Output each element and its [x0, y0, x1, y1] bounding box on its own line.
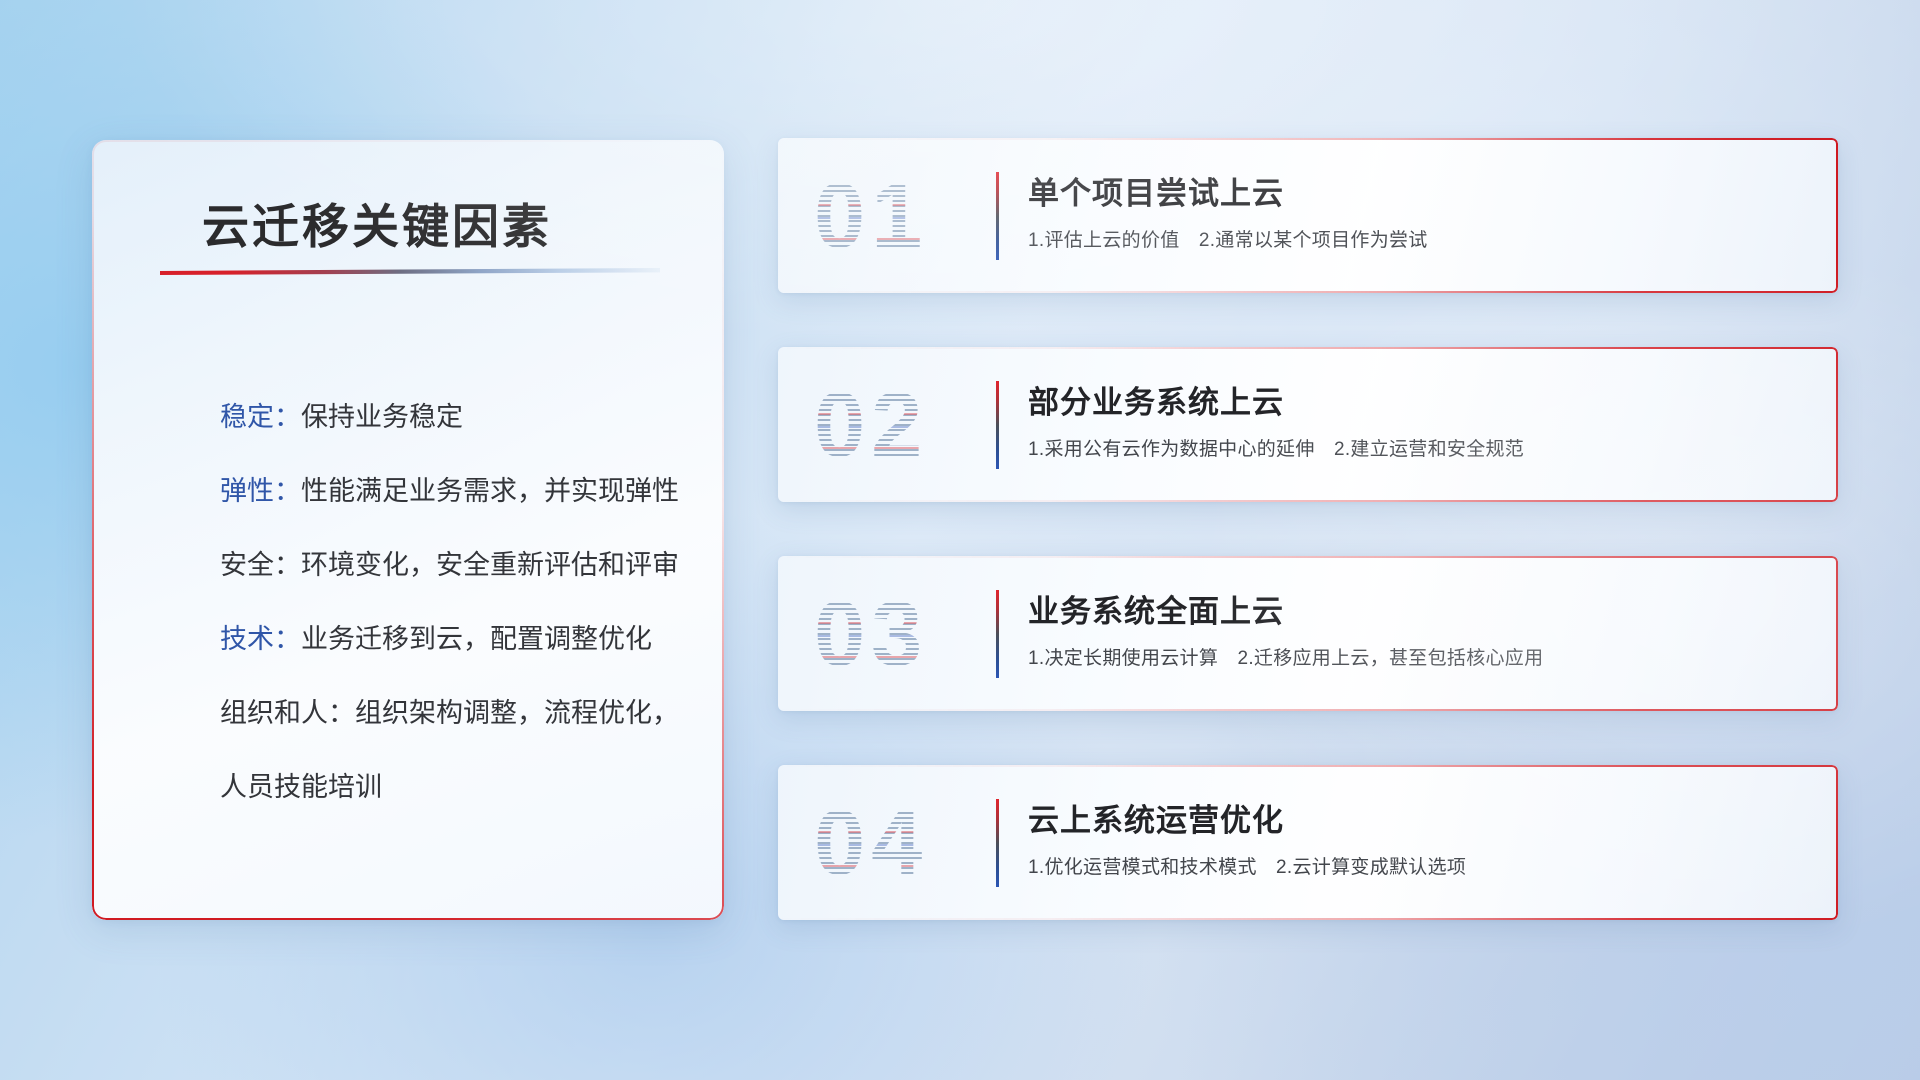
- factor-text: 保持业务稳定: [301, 402, 463, 432]
- factor-item: 组织和人：组织架构调整，流程优化，: [220, 676, 690, 750]
- stage-number-text: 02: [814, 374, 928, 476]
- stage-number-text: 03: [814, 583, 928, 685]
- factor-key: 弹性：: [220, 476, 301, 506]
- stage-title: 单个项目尝试上云: [1028, 168, 1812, 213]
- stage-card[interactable]: 01 01 01 单个项目尝试上云 1.评估上云的价值 2.通常以某个项目作为尝…: [778, 138, 1838, 293]
- stage-body: 部分业务系统上云 1.采用公有云作为数据中心的延伸 2.建立运营和安全规范: [1028, 377, 1812, 461]
- stage-body: 单个项目尝试上云 1.评估上云的价值 2.通常以某个项目作为尝试: [1028, 168, 1812, 252]
- factor-item-continuation: 人员技能培训: [220, 750, 690, 824]
- factor-text: 组织架构调整，流程优化，: [355, 698, 679, 728]
- factor-key: 组织和人：: [220, 698, 355, 728]
- migration-stage-card-list: 01 01 01 单个项目尝试上云 1.评估上云的价值 2.通常以某个项目作为尝…: [778, 138, 1838, 920]
- stage-card[interactable]: 03 03 03 业务系统全面上云 1.决定长期使用云计算 2.迁移应用上云，甚…: [778, 556, 1838, 711]
- stage-number-text: 04: [814, 792, 928, 894]
- stage-number: 03 03 03: [814, 588, 928, 680]
- stage-subtitle: 1.优化运营模式和技术模式 2.云计算变成默认选项: [1028, 852, 1812, 879]
- factor-item: 弹性：性能满足业务需求，并实现弹性: [220, 454, 690, 528]
- stage-card[interactable]: 04 04 04 云上系统运营优化 1.优化运营模式和技术模式 2.云计算变成默…: [778, 765, 1838, 920]
- key-factors-panel: 云迁移关键因素 稳定：保持业务稳定 弹性：性能满足业务需求，并实现弹性 安全：环…: [92, 140, 724, 920]
- factor-text: 性能满足业务需求，并实现弹性: [301, 476, 679, 506]
- stage-accent-bar: [996, 590, 999, 678]
- factor-list: 稳定：保持业务稳定 弹性：性能满足业务需求，并实现弹性 安全：环境变化，安全重新…: [220, 380, 690, 824]
- stage-body: 云上系统运营优化 1.优化运营模式和技术模式 2.云计算变成默认选项: [1028, 795, 1812, 879]
- stage-accent-bar: [996, 381, 999, 469]
- factor-item: 安全：环境变化，安全重新评估和评审: [220, 528, 690, 602]
- page-title: 云迁移关键因素: [202, 188, 552, 257]
- stage-number: 02 02 02: [814, 379, 928, 471]
- stage-number-text: 01: [814, 165, 928, 267]
- factor-text: 业务迁移到云，配置调整优化: [301, 624, 652, 654]
- factor-item: 技术：业务迁移到云，配置调整优化: [220, 602, 690, 676]
- factor-text: 环境变化，安全重新评估和评审: [301, 550, 679, 580]
- factor-text: 人员技能培训: [220, 772, 382, 802]
- stage-card[interactable]: 02 02 02 部分业务系统上云 1.采用公有云作为数据中心的延伸 2.建立运…: [778, 347, 1838, 502]
- stage-accent-bar: [996, 172, 999, 260]
- stage-accent-bar: [996, 799, 999, 887]
- stage-subtitle: 1.评估上云的价值 2.通常以某个项目作为尝试: [1028, 225, 1812, 252]
- factor-key: 安全：: [220, 550, 301, 580]
- stage-title: 云上系统运营优化: [1028, 795, 1812, 840]
- stage-subtitle: 1.决定长期使用云计算 2.迁移应用上云，甚至包括核心应用: [1028, 643, 1812, 670]
- stage-number: 01 01 01: [814, 170, 928, 262]
- stage-subtitle: 1.采用公有云作为数据中心的延伸 2.建立运营和安全规范: [1028, 434, 1812, 461]
- stage-title: 部分业务系统上云: [1028, 377, 1812, 422]
- slide-canvas: 云迁移关键因素 稳定：保持业务稳定 弹性：性能满足业务需求，并实现弹性 安全：环…: [0, 0, 1920, 1080]
- stage-number: 04 04 04: [814, 797, 928, 889]
- title-underline-rule: [160, 268, 660, 275]
- stage-title: 业务系统全面上云: [1028, 586, 1812, 631]
- factor-key: 稳定：: [220, 402, 301, 432]
- factor-item: 稳定：保持业务稳定: [220, 380, 690, 454]
- factor-key: 技术：: [220, 624, 301, 654]
- stage-body: 业务系统全面上云 1.决定长期使用云计算 2.迁移应用上云，甚至包括核心应用: [1028, 586, 1812, 670]
